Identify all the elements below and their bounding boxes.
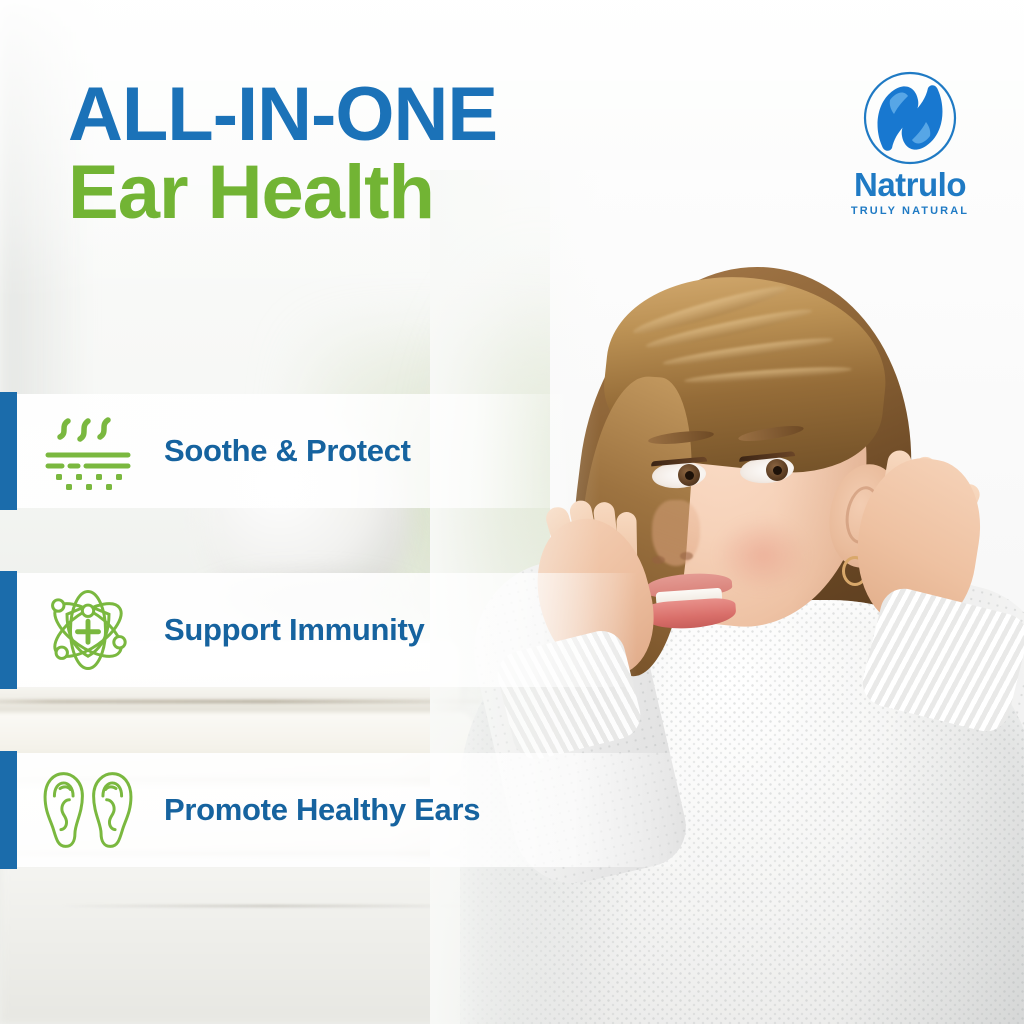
logo-wordmark: Natrulo [820, 166, 1000, 204]
feature-label: Promote Healthy Ears [164, 792, 480, 828]
feature-label: Soothe & Protect [164, 433, 411, 469]
atom-shield-immunity-icon [38, 588, 138, 672]
feature-card-support-immunity[interactable]: Support Immunity [0, 573, 700, 687]
logo-tagline: TRULY NATURAL [820, 205, 1000, 217]
feature-card-soothe-protect[interactable]: Soothe & Protect [0, 394, 640, 508]
feature-card-promote-healthy-ears[interactable]: Promote Healthy Ears [0, 753, 760, 867]
model-pupil-right [773, 466, 782, 475]
steam-soothe-icon [38, 409, 138, 493]
towel-fold-line-1 [0, 700, 480, 703]
feature-label: Support Immunity [164, 612, 424, 648]
natrulo-wave-n-icon [850, 66, 970, 170]
model-nostril [652, 556, 665, 564]
feature-content: Support Immunity [0, 573, 424, 687]
feature-content: Soothe & Protect [0, 394, 411, 508]
two-ears-icon [38, 768, 138, 852]
brand-logo[interactable]: Natrulo TRULY NATURAL [820, 66, 1000, 226]
headline-line-two: Ear Health [68, 156, 688, 230]
feature-content: Promote Healthy Ears [0, 753, 480, 867]
promo-image-canvas: ALL-IN-ONE Ear Health Natrulo TRULY NATU… [0, 0, 1024, 1024]
background-shelf-line [60, 905, 480, 907]
headline-line-one: ALL-IN-ONE [68, 78, 688, 152]
model-pupil-left [685, 471, 694, 480]
page-title: ALL-IN-ONE Ear Health [68, 78, 688, 231]
model-nostril [680, 552, 693, 560]
